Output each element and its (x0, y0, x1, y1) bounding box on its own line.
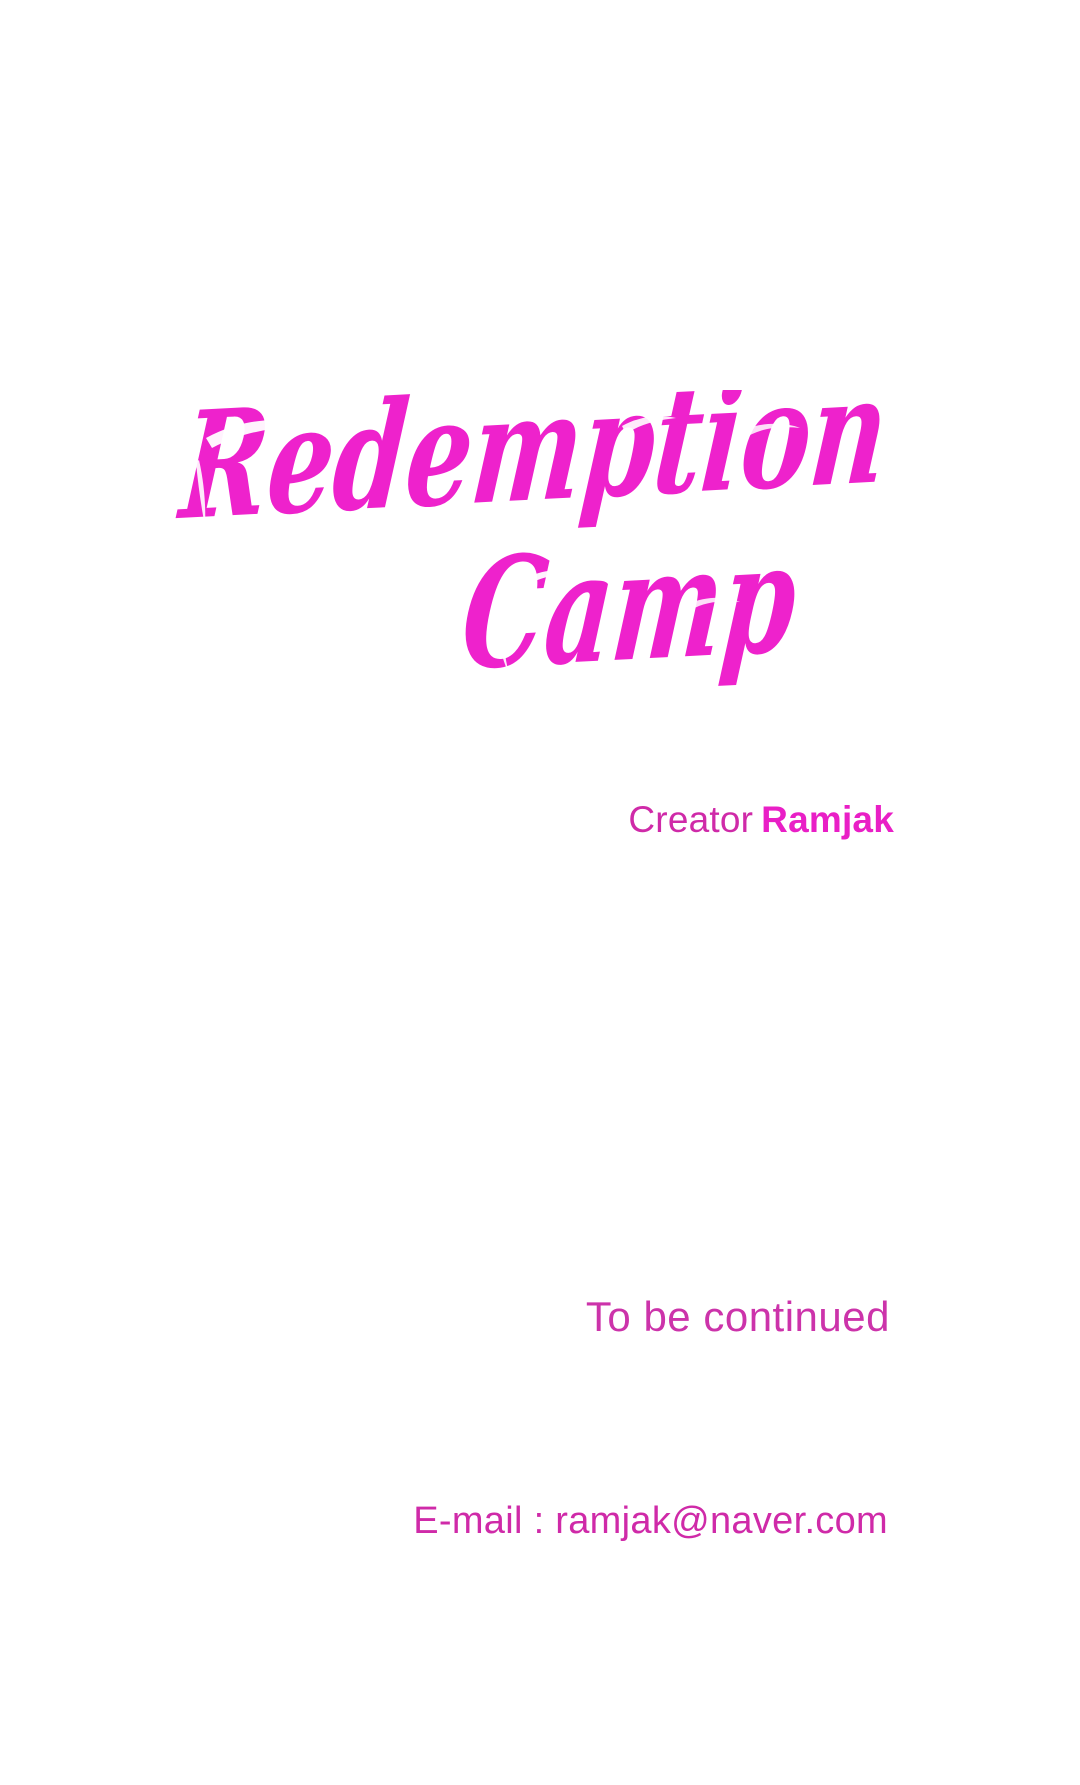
comic-end-card-page: Redemption Camp CreatorRamjak To be cont… (0, 0, 1080, 1785)
to-be-continued-text: To be continued (0, 1292, 890, 1342)
title-line-2-text: Camp (456, 510, 804, 700)
title-line-2: Camp (456, 510, 804, 700)
series-title-artwork: Redemption Camp (0, 390, 1080, 700)
creator-label: Creator (628, 799, 753, 840)
series-title-logo: Redemption Camp (0, 390, 1080, 700)
creator-credit: CreatorRamjak (0, 798, 894, 842)
contact-email-text: E-mail : ramjak@naver.com (0, 1498, 888, 1544)
creator-name: Ramjak (761, 799, 894, 840)
